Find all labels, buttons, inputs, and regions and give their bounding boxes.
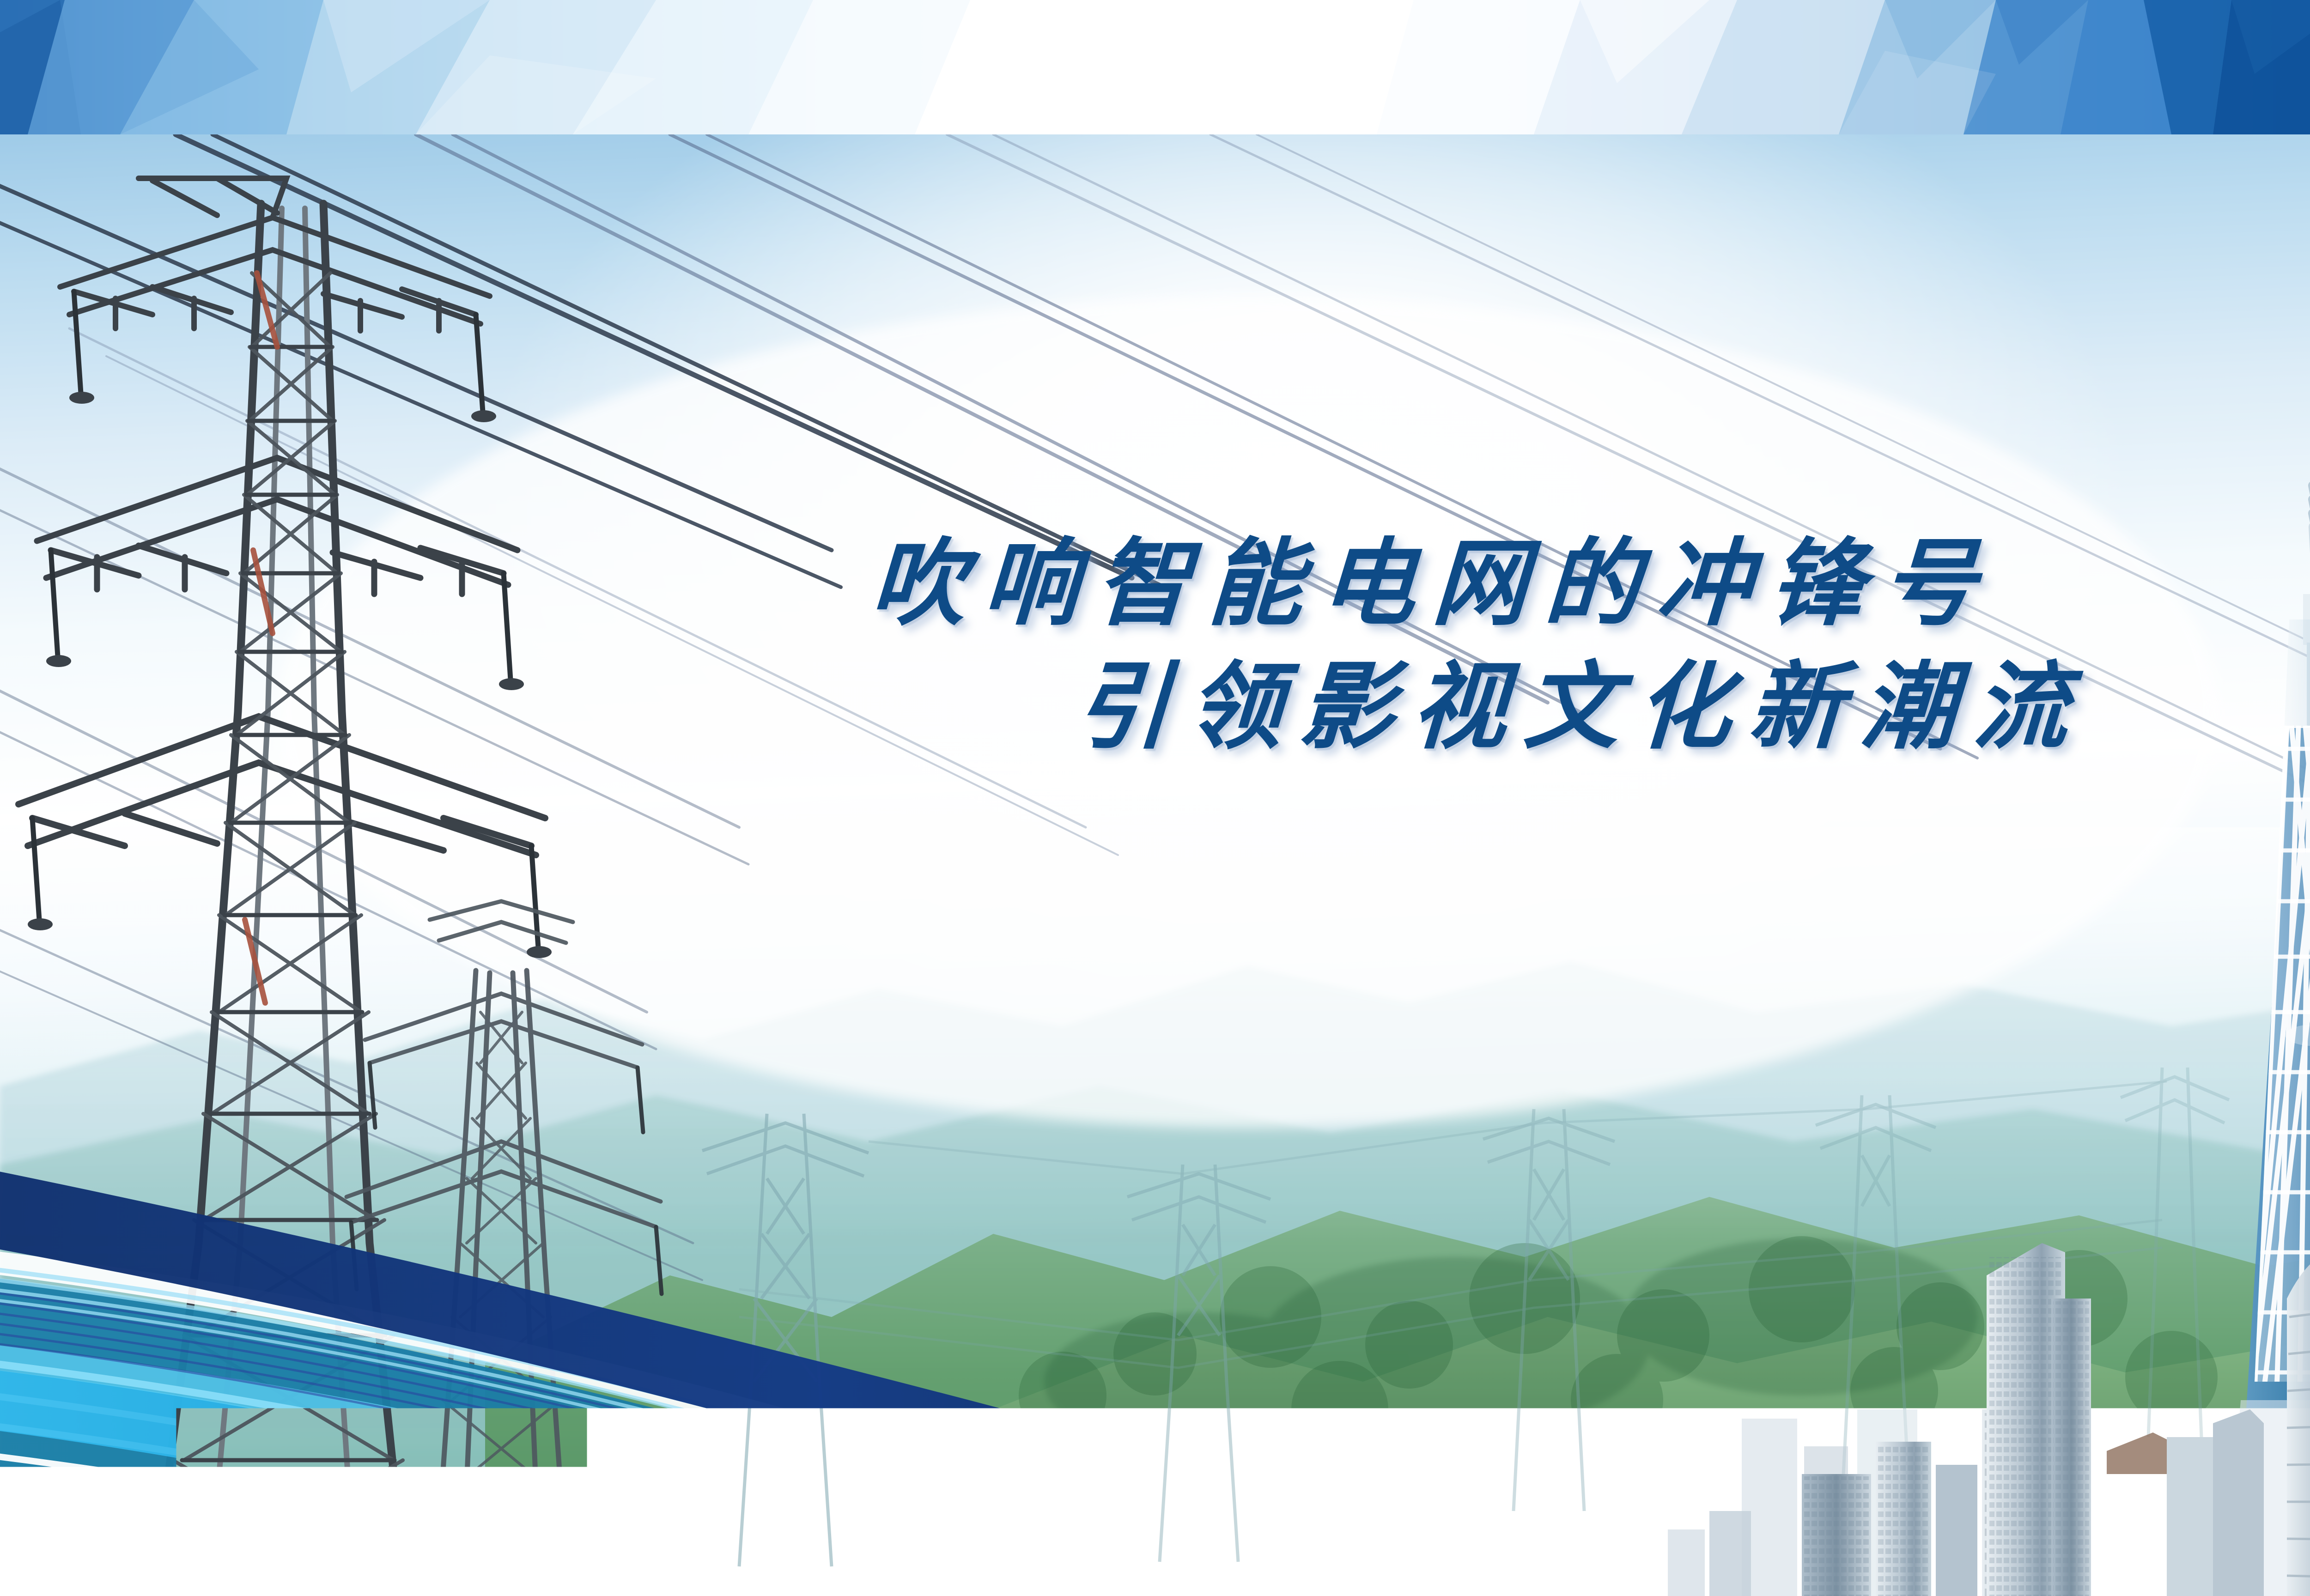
wave-ribbon-group — [0, 0, 2310, 1596]
poster-canvas: 吹响智能电网的冲锋号 引领影视文化新潮流 — [0, 0, 2310, 1596]
